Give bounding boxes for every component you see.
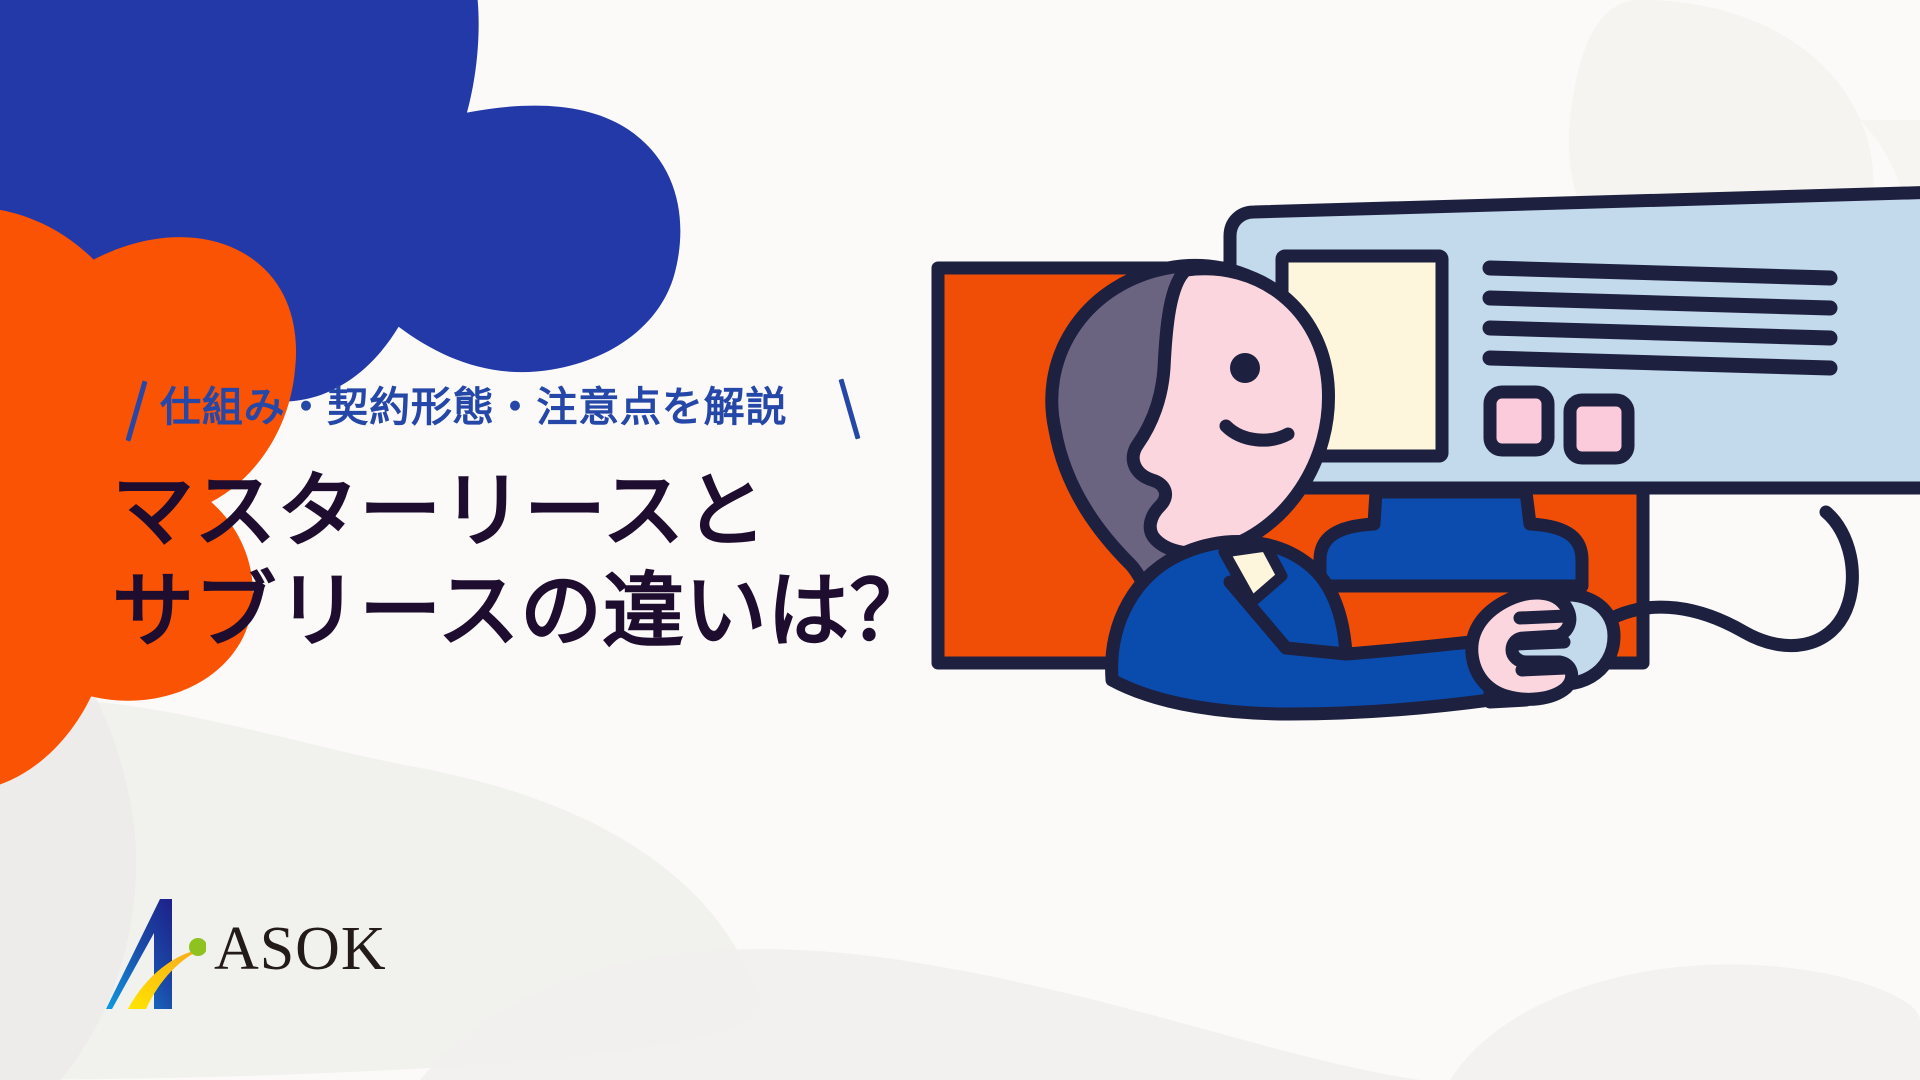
- slash-left-icon: [126, 381, 148, 442]
- monitor-pink-button-1: [1490, 392, 1548, 450]
- asok-wordmark: ASOK: [214, 918, 387, 986]
- banner-canvas: 仕組み・契約形態・注意点を解説 マスターリースと サブリースの違いは？: [0, 0, 1920, 1080]
- eyebrow-text: 仕組み・契約形態・注意点を解説: [160, 378, 787, 436]
- slash-right-icon: [839, 379, 861, 440]
- woman-eye: [1230, 353, 1260, 383]
- hero-illustration: [930, 140, 1920, 740]
- woman-at-computer-illustration: [930, 140, 1920, 740]
- page-title: マスターリースと サブリースの違いは？: [112, 462, 1072, 662]
- page-title-line-2: サブリースの違いは？: [112, 562, 1072, 662]
- page-title-line-1: マスターリースと: [112, 462, 1072, 562]
- monitor-pink-button-2: [1570, 400, 1628, 458]
- eyebrow-line: 仕組み・契約形態・注意点を解説: [112, 378, 1072, 440]
- asok-a-mark-icon: [106, 893, 206, 1011]
- asok-logo[interactable]: ASOK: [106, 893, 387, 1011]
- text-block: 仕組み・契約形態・注意点を解説 マスターリースと サブリースの違いは？: [112, 378, 1072, 662]
